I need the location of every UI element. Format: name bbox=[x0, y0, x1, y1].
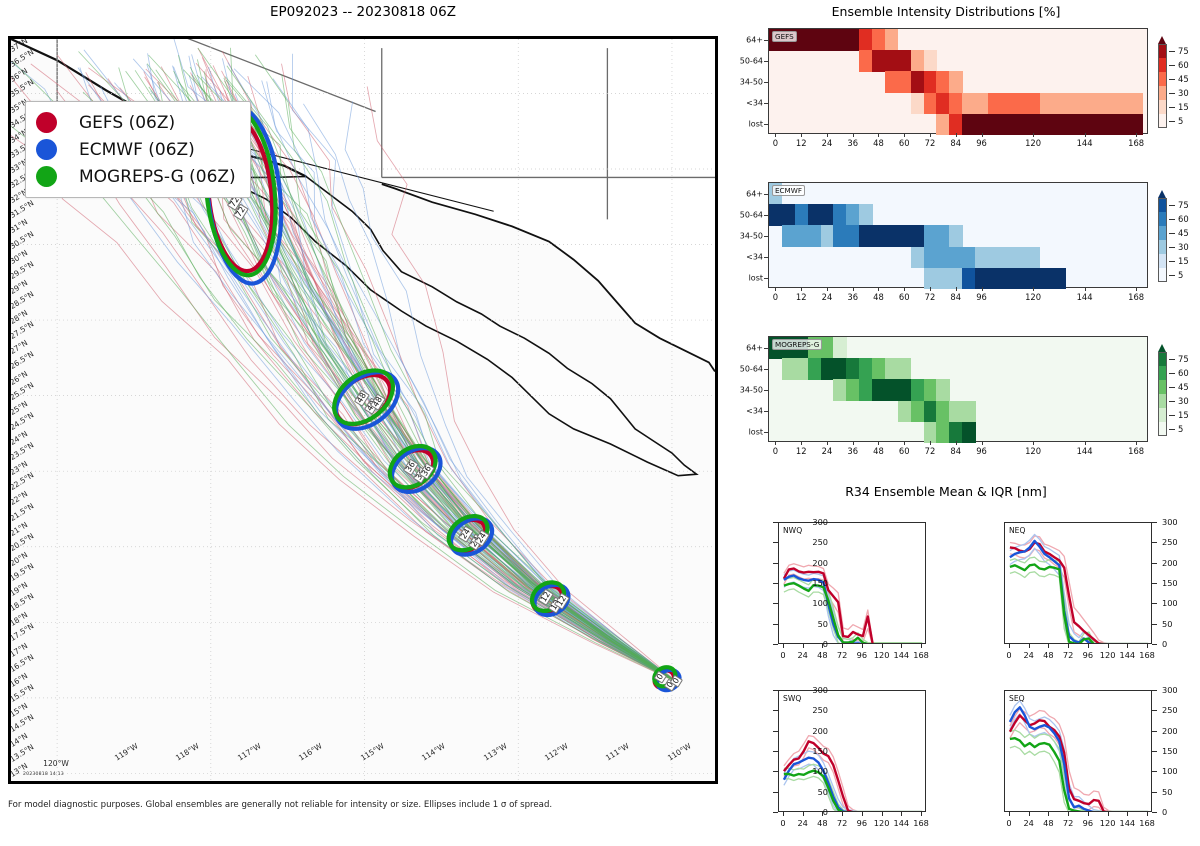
colorbar-tick bbox=[1169, 121, 1175, 122]
heatmap-cell bbox=[949, 401, 962, 423]
heatmap-cell bbox=[833, 379, 846, 401]
r34-series bbox=[1010, 730, 1148, 811]
heatmap-cell bbox=[769, 204, 782, 226]
heatmap-x-tick bbox=[1033, 287, 1034, 291]
r34-y-tick bbox=[1152, 792, 1157, 793]
intensity-panel-ecmwf: ECMWF64+50-6434-50<34lost012243648607284… bbox=[726, 182, 1166, 328]
heatmap-y-label: 64+ bbox=[746, 35, 763, 44]
r34-y-label: 150 bbox=[800, 578, 828, 588]
r34-series bbox=[1010, 723, 1148, 812]
heatmap-cell bbox=[833, 337, 846, 359]
heatmap-cell bbox=[936, 422, 949, 444]
heatmap-cell bbox=[898, 225, 911, 247]
heatmap-cell bbox=[821, 204, 834, 226]
heatmap-cell bbox=[975, 247, 988, 269]
colorbar-max-arrow bbox=[1158, 36, 1166, 44]
heatmap-model-label: MOGREPS-G bbox=[772, 339, 822, 350]
heatmap-x-tick bbox=[775, 133, 776, 137]
heatmap-cell bbox=[1130, 93, 1143, 115]
heatmap-cell bbox=[859, 379, 872, 401]
heatmap-x-tick bbox=[956, 133, 957, 137]
r34-x-label: 144 bbox=[1120, 650, 1136, 660]
heatmap-cell bbox=[898, 358, 911, 380]
heatmap-cell bbox=[821, 337, 834, 359]
heatmap-cell bbox=[782, 204, 795, 226]
r34-x-tick bbox=[1009, 644, 1010, 648]
colorbar-tick-label: 60 bbox=[1178, 368, 1189, 378]
colorbar-mogreps-g: 51530456075 bbox=[1158, 338, 1200, 446]
heatmap-y-tick bbox=[764, 194, 769, 195]
heatmap-cell bbox=[833, 29, 846, 51]
r34-series bbox=[1010, 572, 1148, 644]
r34-y-label: 200 bbox=[1162, 558, 1178, 568]
heatmap-cell bbox=[1027, 247, 1040, 269]
r34-y-label: 150 bbox=[800, 746, 828, 756]
heatmap-x-tick bbox=[1136, 287, 1137, 291]
r34-quadrant-label: SWQ bbox=[783, 694, 801, 703]
r34-y-tick bbox=[773, 751, 778, 752]
heatmap-y-label: 50-64 bbox=[740, 210, 763, 219]
r34-quadrant-label: NEQ bbox=[1009, 526, 1025, 535]
heatmap-cell bbox=[833, 225, 846, 247]
r34-series bbox=[1010, 565, 1148, 645]
heatmap-x-tick bbox=[930, 133, 931, 137]
r34-x-label: 48 bbox=[817, 650, 827, 660]
r34-x-tick bbox=[1127, 812, 1128, 816]
r34-y-label: 50 bbox=[800, 787, 828, 797]
r34-y-label: 300 bbox=[800, 685, 828, 695]
heatmap-y-tick bbox=[764, 278, 769, 279]
colorbar-min-arrow bbox=[1158, 128, 1166, 136]
r34-x-label: 24 bbox=[1023, 818, 1033, 828]
heatmap-cell bbox=[859, 225, 872, 247]
r34-x-tick bbox=[1147, 812, 1148, 816]
r34-x-label: 24 bbox=[1023, 650, 1033, 660]
heatmap-cell bbox=[936, 114, 949, 136]
heatmap-cell bbox=[949, 247, 962, 269]
heatmap-y-label: 50-64 bbox=[740, 364, 763, 373]
heatmap-cell bbox=[924, 71, 937, 93]
r34-x-tick bbox=[1088, 812, 1089, 816]
r34-x-tick bbox=[783, 812, 784, 816]
r34-x-tick bbox=[1048, 644, 1049, 648]
r34-y-label: 150 bbox=[1162, 578, 1178, 588]
heatmap-cell bbox=[1065, 93, 1078, 115]
heatmap-cell bbox=[872, 50, 885, 72]
heatmap-cell bbox=[795, 358, 808, 380]
heatmap-x-label: 96 bbox=[976, 138, 987, 148]
heatmap-y-tick bbox=[764, 40, 769, 41]
colorbar-tick-label: 75 bbox=[1178, 200, 1189, 210]
heatmap-gefs[interactable]: GEFS64+50-6434-50<34lost0122436486072849… bbox=[768, 28, 1148, 134]
heatmap-cell bbox=[846, 204, 859, 226]
colorbar-tick-label: 30 bbox=[1178, 88, 1189, 98]
heatmap-cell bbox=[1001, 268, 1014, 290]
r34-y-label: 200 bbox=[800, 558, 828, 568]
r34-x-tick bbox=[921, 812, 922, 816]
heatmap-x-tick bbox=[853, 441, 854, 445]
heatmap-cell bbox=[949, 71, 962, 93]
heatmap-cell bbox=[936, 247, 949, 269]
r34-panel-swq: SWQ050100150200250300024487296120144168 bbox=[778, 690, 986, 846]
heatmap-y-tick bbox=[764, 411, 769, 412]
heatmap-y-label: <34 bbox=[746, 99, 763, 108]
r34-y-tick bbox=[1152, 583, 1157, 584]
heatmap-cell bbox=[859, 50, 872, 72]
heatmap-cell bbox=[924, 225, 937, 247]
heatmap-x-tick bbox=[775, 441, 776, 445]
heatmap-x-label: 144 bbox=[1077, 138, 1093, 148]
r34-x-tick bbox=[1127, 644, 1128, 648]
lon-tick-label: 120°W bbox=[43, 759, 69, 768]
r34-y-tick bbox=[773, 771, 778, 772]
heatmap-x-tick bbox=[827, 287, 828, 291]
r34-x-label: 0 bbox=[1006, 818, 1011, 828]
r34-x-label: 48 bbox=[1043, 650, 1053, 660]
heatmap-cell bbox=[808, 29, 821, 51]
colorbar-tick-label: 15 bbox=[1178, 410, 1189, 420]
heatmap-x-tick bbox=[775, 287, 776, 291]
r34-y-tick bbox=[773, 792, 778, 793]
heatmap-cell bbox=[1091, 114, 1104, 136]
colorbar-tick-label: 30 bbox=[1178, 396, 1189, 406]
heatmap-y-tick bbox=[764, 103, 769, 104]
heatmap-y-label: lost bbox=[749, 274, 763, 283]
r34-x-label: 120 bbox=[874, 650, 890, 660]
r34-x-label: 96 bbox=[1083, 818, 1093, 828]
r34-y-label: 0 bbox=[1162, 639, 1167, 649]
colorbar-tick bbox=[1169, 401, 1175, 402]
heatmap-cell bbox=[911, 379, 924, 401]
r34-y-label: 50 bbox=[1162, 619, 1172, 629]
heatmap-cell bbox=[821, 29, 834, 51]
colorbar-tick bbox=[1169, 373, 1175, 374]
heatmap-cell bbox=[924, 93, 937, 115]
r34-x-tick bbox=[842, 812, 843, 816]
heatmap-cell bbox=[846, 29, 859, 51]
heatmap-cell bbox=[872, 29, 885, 51]
heatmap-cell bbox=[1014, 268, 1027, 290]
r34-y-label: 50 bbox=[1162, 787, 1172, 797]
r34-x-tick bbox=[783, 644, 784, 648]
heatmap-x-label: 36 bbox=[847, 138, 858, 148]
heatmap-y-tick bbox=[764, 124, 769, 125]
heatmap-cell bbox=[885, 358, 898, 380]
heatmap-cell bbox=[808, 225, 821, 247]
colorbar-tick bbox=[1169, 65, 1175, 66]
r34-y-label: 0 bbox=[800, 639, 828, 649]
heatmap-cell bbox=[872, 225, 885, 247]
heatmap-x-label: 96 bbox=[976, 292, 987, 302]
heatmap-cell bbox=[936, 401, 949, 423]
r34-x-tick bbox=[1147, 644, 1148, 648]
heatmap-x-tick bbox=[956, 287, 957, 291]
legend-label-ecmwf: ECMWF (06Z) bbox=[79, 140, 195, 160]
r34-y-label: 100 bbox=[1162, 766, 1178, 776]
heatmap-cell bbox=[872, 379, 885, 401]
heatmap-y-tick bbox=[764, 82, 769, 83]
r34-section-title: R34 Ensemble Mean & IQR [nm] bbox=[726, 484, 1166, 499]
colorbar-outline bbox=[1158, 352, 1167, 436]
r34-x-label: 168 bbox=[1139, 650, 1155, 660]
heatmap-cell bbox=[988, 268, 1001, 290]
colorbar-tick-label: 60 bbox=[1178, 60, 1189, 70]
r34-series bbox=[784, 589, 922, 644]
r34-y-tick bbox=[1152, 771, 1157, 772]
heatmap-cell bbox=[988, 93, 1001, 115]
r34-y-tick bbox=[1152, 710, 1157, 711]
heatmap-cells bbox=[769, 183, 1147, 287]
heatmap-y-tick bbox=[764, 390, 769, 391]
heatmap-cell bbox=[859, 358, 872, 380]
r34-y-tick bbox=[773, 624, 778, 625]
heatmap-x-tick bbox=[930, 287, 931, 291]
heatmap-y-tick bbox=[764, 369, 769, 370]
r34-x-tick bbox=[1029, 812, 1030, 816]
heatmap-cell bbox=[936, 93, 949, 115]
r34-y-label: 300 bbox=[1162, 685, 1178, 695]
heatmap-cells bbox=[769, 29, 1147, 133]
r34-plot-seq[interactable]: SEQ bbox=[1004, 690, 1152, 812]
heatmap-cell bbox=[911, 50, 924, 72]
r34-x-label: 96 bbox=[857, 650, 867, 660]
r34-y-tick bbox=[773, 522, 778, 523]
heatmap-cell bbox=[911, 71, 924, 93]
heatmap-cell bbox=[1104, 114, 1117, 136]
r34-series bbox=[1010, 549, 1148, 644]
heatmap-x-label: 96 bbox=[976, 446, 987, 456]
heatmap-cell bbox=[885, 225, 898, 247]
colorbar-tick-label: 5 bbox=[1178, 116, 1183, 126]
r34-y-tick bbox=[773, 542, 778, 543]
heatmap-cell bbox=[872, 358, 885, 380]
heatmap-y-label: 34-50 bbox=[740, 232, 763, 241]
r34-series bbox=[1010, 557, 1148, 643]
heatmap-cell bbox=[1052, 93, 1065, 115]
heatmap-cell bbox=[924, 379, 937, 401]
heatmap-x-tick bbox=[853, 133, 854, 137]
heatmap-cell bbox=[885, 379, 898, 401]
heatmap-x-label: 120 bbox=[1025, 292, 1041, 302]
heatmap-cell bbox=[795, 225, 808, 247]
heatmap-x-label: 60 bbox=[899, 292, 910, 302]
intensity-section-title: Ensemble Intensity Distributions [%] bbox=[726, 4, 1166, 19]
heatmap-x-label: 36 bbox=[847, 446, 858, 456]
heatmap-x-label: 168 bbox=[1128, 292, 1144, 302]
r34-y-tick bbox=[1152, 563, 1157, 564]
mogreps-color-swatch bbox=[36, 166, 57, 187]
r34-x-tick bbox=[862, 644, 863, 648]
heatmap-cell bbox=[1001, 247, 1014, 269]
r34-y-tick bbox=[773, 690, 778, 691]
colorbar-tick-label: 30 bbox=[1178, 242, 1189, 252]
heatmap-cell bbox=[898, 379, 911, 401]
heatmap-y-label: <34 bbox=[746, 253, 763, 262]
colorbar-tick bbox=[1169, 359, 1175, 360]
r34-quadrant-label: SEQ bbox=[1009, 694, 1025, 703]
r34-series bbox=[784, 582, 922, 644]
r34-x-tick bbox=[1009, 812, 1010, 816]
heatmap-cell bbox=[1014, 247, 1027, 269]
heatmap-cell bbox=[885, 50, 898, 72]
legend-item-ecmwf: ECMWF (06Z) bbox=[36, 136, 236, 163]
heatmap-x-label: 84 bbox=[950, 292, 961, 302]
colorbar-tick-label: 15 bbox=[1178, 102, 1189, 112]
heatmap-x-tick bbox=[1033, 441, 1034, 445]
heatmap-x-label: 24 bbox=[822, 292, 833, 302]
ecmwf-color-swatch bbox=[36, 139, 57, 160]
heatmap-cell bbox=[1117, 114, 1130, 136]
r34-x-label: 168 bbox=[913, 650, 929, 660]
colorbar-tick-label: 15 bbox=[1178, 256, 1189, 266]
r34-x-label: 72 bbox=[1063, 818, 1073, 828]
heatmap-ecmwf[interactable]: ECMWF64+50-6434-50<34lost012243648607284… bbox=[768, 182, 1148, 288]
heatmap-y-tick bbox=[764, 236, 769, 237]
heatmap-cell bbox=[821, 358, 834, 380]
heatmap-cell bbox=[911, 93, 924, 115]
colorbar-tick bbox=[1169, 107, 1175, 108]
heatmap-cell bbox=[962, 114, 975, 136]
heatmap-cell bbox=[808, 204, 821, 226]
heatmap-x-tick bbox=[801, 287, 802, 291]
colorbar-tick bbox=[1169, 93, 1175, 94]
heatmap-x-tick bbox=[878, 133, 879, 137]
r34-y-label: 0 bbox=[800, 807, 828, 817]
heatmap-mogreps-g[interactable]: MOGREPS-G64+50-6434-50<34lost01224364860… bbox=[768, 336, 1148, 442]
colorbar-tick-label: 75 bbox=[1178, 354, 1189, 364]
heatmap-cell bbox=[846, 379, 859, 401]
heatmap-x-label: 72 bbox=[925, 138, 936, 148]
heatmap-x-tick bbox=[1085, 133, 1086, 137]
r34-plot-neq[interactable]: NEQ bbox=[1004, 522, 1152, 644]
heatmap-y-tick bbox=[764, 432, 769, 433]
heatmap-y-tick bbox=[764, 61, 769, 62]
heatmap-x-label: 84 bbox=[950, 138, 961, 148]
r34-y-label: 0 bbox=[1162, 807, 1167, 817]
dashboard-root: EP092023 -- 20230818 06Z GEFS (06Z) ECMW… bbox=[0, 0, 1200, 840]
r34-x-tick bbox=[882, 812, 883, 816]
colorbar-ecmwf: 51530456075 bbox=[1158, 184, 1200, 292]
heatmap-x-tick bbox=[904, 133, 905, 137]
r34-x-label: 96 bbox=[857, 818, 867, 828]
heatmap-x-tick bbox=[1136, 133, 1137, 137]
heatmap-x-tick bbox=[904, 441, 905, 445]
heatmap-y-label: 34-50 bbox=[740, 386, 763, 395]
heatmap-x-label: 84 bbox=[950, 446, 961, 456]
heatmap-x-tick bbox=[982, 133, 983, 137]
r34-y-label: 100 bbox=[800, 598, 828, 608]
r34-x-label: 24 bbox=[797, 650, 807, 660]
heatmap-x-tick bbox=[853, 287, 854, 291]
heatmap-cell bbox=[962, 247, 975, 269]
heatmap-cell bbox=[859, 204, 872, 226]
r34-y-label: 50 bbox=[800, 619, 828, 629]
heatmap-cell bbox=[846, 358, 859, 380]
heatmap-x-label: 72 bbox=[925, 446, 936, 456]
colorbar-tick bbox=[1169, 275, 1175, 276]
heatmap-x-label: 36 bbox=[847, 292, 858, 302]
r34-x-label: 120 bbox=[1100, 818, 1116, 828]
colorbar-tick bbox=[1169, 387, 1175, 388]
r34-y-tick bbox=[1152, 751, 1157, 752]
heatmap-x-label: 0 bbox=[773, 138, 778, 148]
r34-x-tick bbox=[1048, 812, 1049, 816]
r34-x-tick bbox=[882, 644, 883, 648]
r34-x-label: 168 bbox=[1139, 818, 1155, 828]
right-column: Ensemble Intensity Distributions [%] GEF… bbox=[726, 0, 1200, 840]
r34-x-tick bbox=[901, 644, 902, 648]
heatmap-cell bbox=[1027, 93, 1040, 115]
disclaimer-text: For model diagnostic purposes. Global en… bbox=[8, 800, 728, 810]
heatmap-cell bbox=[782, 225, 795, 247]
heatmap-x-label: 48 bbox=[873, 292, 884, 302]
heatmap-cell bbox=[1104, 93, 1117, 115]
r34-y-label: 100 bbox=[1162, 598, 1178, 608]
heatmap-cell bbox=[962, 422, 975, 444]
r34-y-label: 300 bbox=[1162, 517, 1178, 527]
heatmap-cell bbox=[936, 268, 949, 290]
r34-x-label: 144 bbox=[894, 650, 910, 660]
heatmap-cell bbox=[911, 225, 924, 247]
r34-y-label: 250 bbox=[1162, 537, 1178, 547]
r34-lines bbox=[1005, 523, 1152, 644]
heatmap-cell bbox=[782, 358, 795, 380]
r34-y-label: 250 bbox=[800, 705, 828, 715]
r34-y-tick bbox=[1152, 690, 1157, 691]
colorbar-tick-label: 60 bbox=[1178, 214, 1189, 224]
heatmap-x-tick bbox=[930, 441, 931, 445]
heatmap-cell bbox=[1001, 114, 1014, 136]
colorbar-tick-label: 5 bbox=[1178, 270, 1183, 280]
r34-y-label: 300 bbox=[800, 517, 828, 527]
heatmap-cell bbox=[988, 114, 1001, 136]
heatmap-cells bbox=[769, 337, 1147, 441]
r34-x-tick bbox=[862, 812, 863, 816]
r34-x-tick bbox=[1029, 644, 1030, 648]
heatmap-x-label: 72 bbox=[925, 292, 936, 302]
r34-y-tick bbox=[1152, 812, 1157, 813]
heatmap-cell bbox=[1040, 268, 1053, 290]
heatmap-y-label: 50-64 bbox=[740, 56, 763, 65]
heatmap-cell bbox=[898, 401, 911, 423]
r34-y-tick bbox=[773, 812, 778, 813]
heatmap-x-tick bbox=[1085, 441, 1086, 445]
heatmap-cell bbox=[911, 247, 924, 269]
heatmap-x-label: 0 bbox=[773, 446, 778, 456]
r34-y-tick bbox=[773, 710, 778, 711]
heatmap-x-tick bbox=[1136, 441, 1137, 445]
heatmap-model-label: ECMWF bbox=[772, 185, 805, 196]
gefs-color-swatch bbox=[36, 112, 57, 133]
r34-x-tick bbox=[1088, 644, 1089, 648]
colorbar-tick bbox=[1169, 247, 1175, 248]
heatmap-x-tick bbox=[878, 441, 879, 445]
colorbar-tick bbox=[1169, 415, 1175, 416]
heatmap-cell bbox=[924, 50, 937, 72]
r34-y-label: 200 bbox=[800, 726, 828, 736]
map-frame[interactable]: GEFS (06Z) ECMWF (06Z) MOGREPS-G (06Z) 3… bbox=[8, 36, 718, 784]
colorbar-tick-label: 45 bbox=[1178, 228, 1189, 238]
colorbar-min-arrow bbox=[1158, 282, 1166, 290]
heatmap-x-label: 0 bbox=[773, 292, 778, 302]
colorbar-max-arrow bbox=[1158, 344, 1166, 352]
heatmap-y-tick bbox=[764, 215, 769, 216]
r34-x-tick bbox=[822, 644, 823, 648]
heatmap-x-tick bbox=[904, 287, 905, 291]
heatmap-model-label: GEFS bbox=[772, 31, 797, 42]
heatmap-x-label: 120 bbox=[1025, 138, 1041, 148]
colorbar-max-arrow bbox=[1158, 190, 1166, 198]
